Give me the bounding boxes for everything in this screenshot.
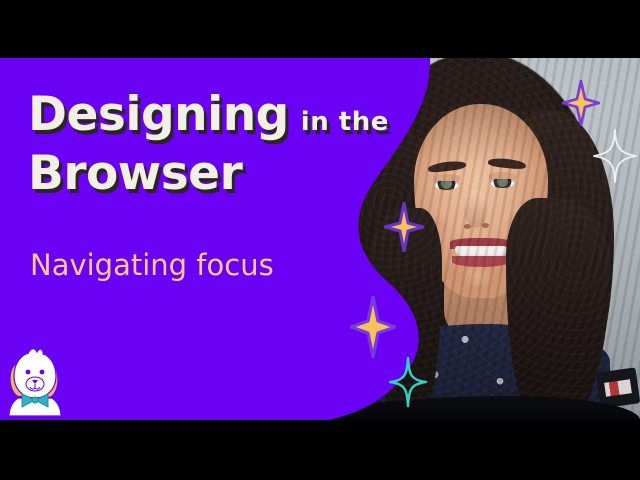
video-content: Designingin the Browser Navigating focus — [0, 58, 640, 420]
sparkle-gold-arm — [350, 296, 396, 358]
title-main-word: Designing — [28, 87, 289, 142]
title-small-words: in the — [289, 107, 389, 137]
sparkle-teal-bottom — [388, 356, 428, 408]
video-player-frame: Designingin the Browser Navigating focus — [0, 0, 640, 480]
dog-bowtie-knot — [32, 397, 38, 403]
page-title-line-1: Designingin the — [28, 84, 389, 153]
dog-eye-left — [26, 370, 31, 375]
sparkle-gold-hair-left — [384, 202, 424, 252]
dog-eye-right — [40, 370, 45, 375]
dog-mascot-logo — [4, 344, 66, 416]
sparkle-white-right — [592, 128, 638, 184]
page-title-line-2: Browser — [28, 146, 242, 201]
sparkle-gold-top-right — [562, 80, 600, 126]
dog-head-tuft — [28, 349, 43, 355]
page-subtitle: Navigating focus — [30, 248, 274, 282]
